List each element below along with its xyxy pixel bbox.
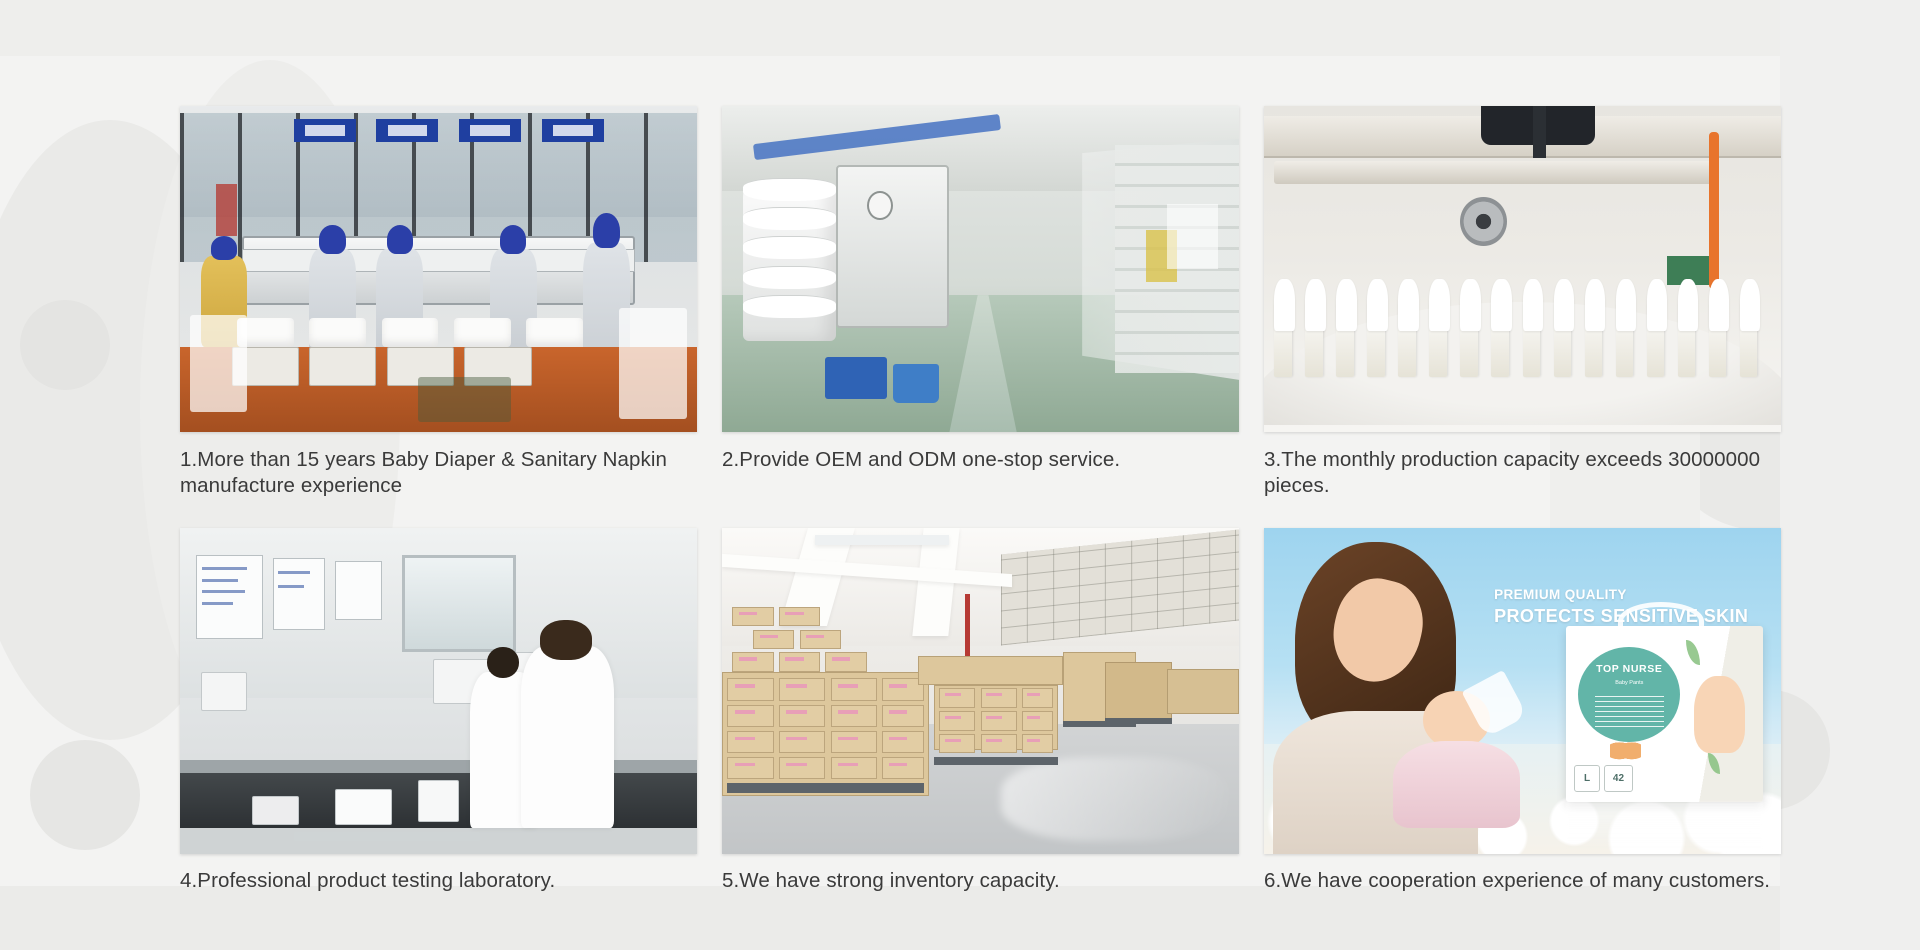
gallery-row-2: 4.Professional product testing laborator… [180,528,1780,894]
image-testing-laboratory[interactable] [180,528,697,854]
ad-headline-line1: PREMIUM QUALITY [1494,587,1748,602]
gallery-item-5[interactable]: 5.We have strong inventory capacity. [722,528,1239,894]
feature-list-lines [1595,695,1664,727]
caption-3: 3.The monthly production capacity exceed… [1264,447,1781,499]
feature-gallery: 1.More than 15 years Baby Diaper & Sanit… [180,106,1780,896]
package-baby-photo [1694,676,1745,753]
gallery-item-3[interactable]: 3.The monthly production capacity exceed… [1264,106,1781,499]
caption-5: 5.We have strong inventory capacity. [722,868,1239,894]
image-rotary-machine[interactable] [1264,106,1781,432]
caption-6: 6.We have cooperation experience of many… [1264,868,1781,894]
package-size-badge: L [1574,765,1600,791]
gallery-row-1: 1.More than 15 years Baby Diaper & Sanit… [180,106,1780,499]
butterfly-icon [1610,742,1641,763]
caption-4: 4.Professional product testing laborator… [180,868,697,894]
image-warehouse[interactable] [722,528,1239,854]
leaf-icon [1686,640,1700,665]
caption-1: 1.More than 15 years Baby Diaper & Sanit… [180,447,697,499]
gallery-item-2[interactable]: 2.Provide OEM and ODM one-stop service. [722,106,1239,499]
brand-badge: TOP NURSE Baby Pants [1578,647,1680,742]
package-count-badge: 42 [1604,765,1633,791]
leaf-icon [1708,753,1720,774]
image-baby-advertisement[interactable]: PREMIUM QUALITY PROTECTS SENSITIVE SKIN … [1264,528,1781,854]
product-package: TOP NURSE Baby Pants L 42 [1566,626,1762,802]
image-factory-corridor[interactable] [722,106,1239,432]
brand-name: TOP NURSE [1578,663,1680,675]
caption-2: 2.Provide OEM and ODM one-stop service. [722,447,1239,473]
gallery-item-4[interactable]: 4.Professional product testing laborator… [180,528,697,894]
image-production-line[interactable] [180,106,697,432]
package-handle [1618,602,1704,641]
gallery-item-1[interactable]: 1.More than 15 years Baby Diaper & Sanit… [180,106,697,499]
product-type: Baby Pants [1578,680,1680,686]
gallery-item-6[interactable]: PREMIUM QUALITY PROTECTS SENSITIVE SKIN … [1264,528,1781,894]
package-reflection [1566,802,1762,848]
